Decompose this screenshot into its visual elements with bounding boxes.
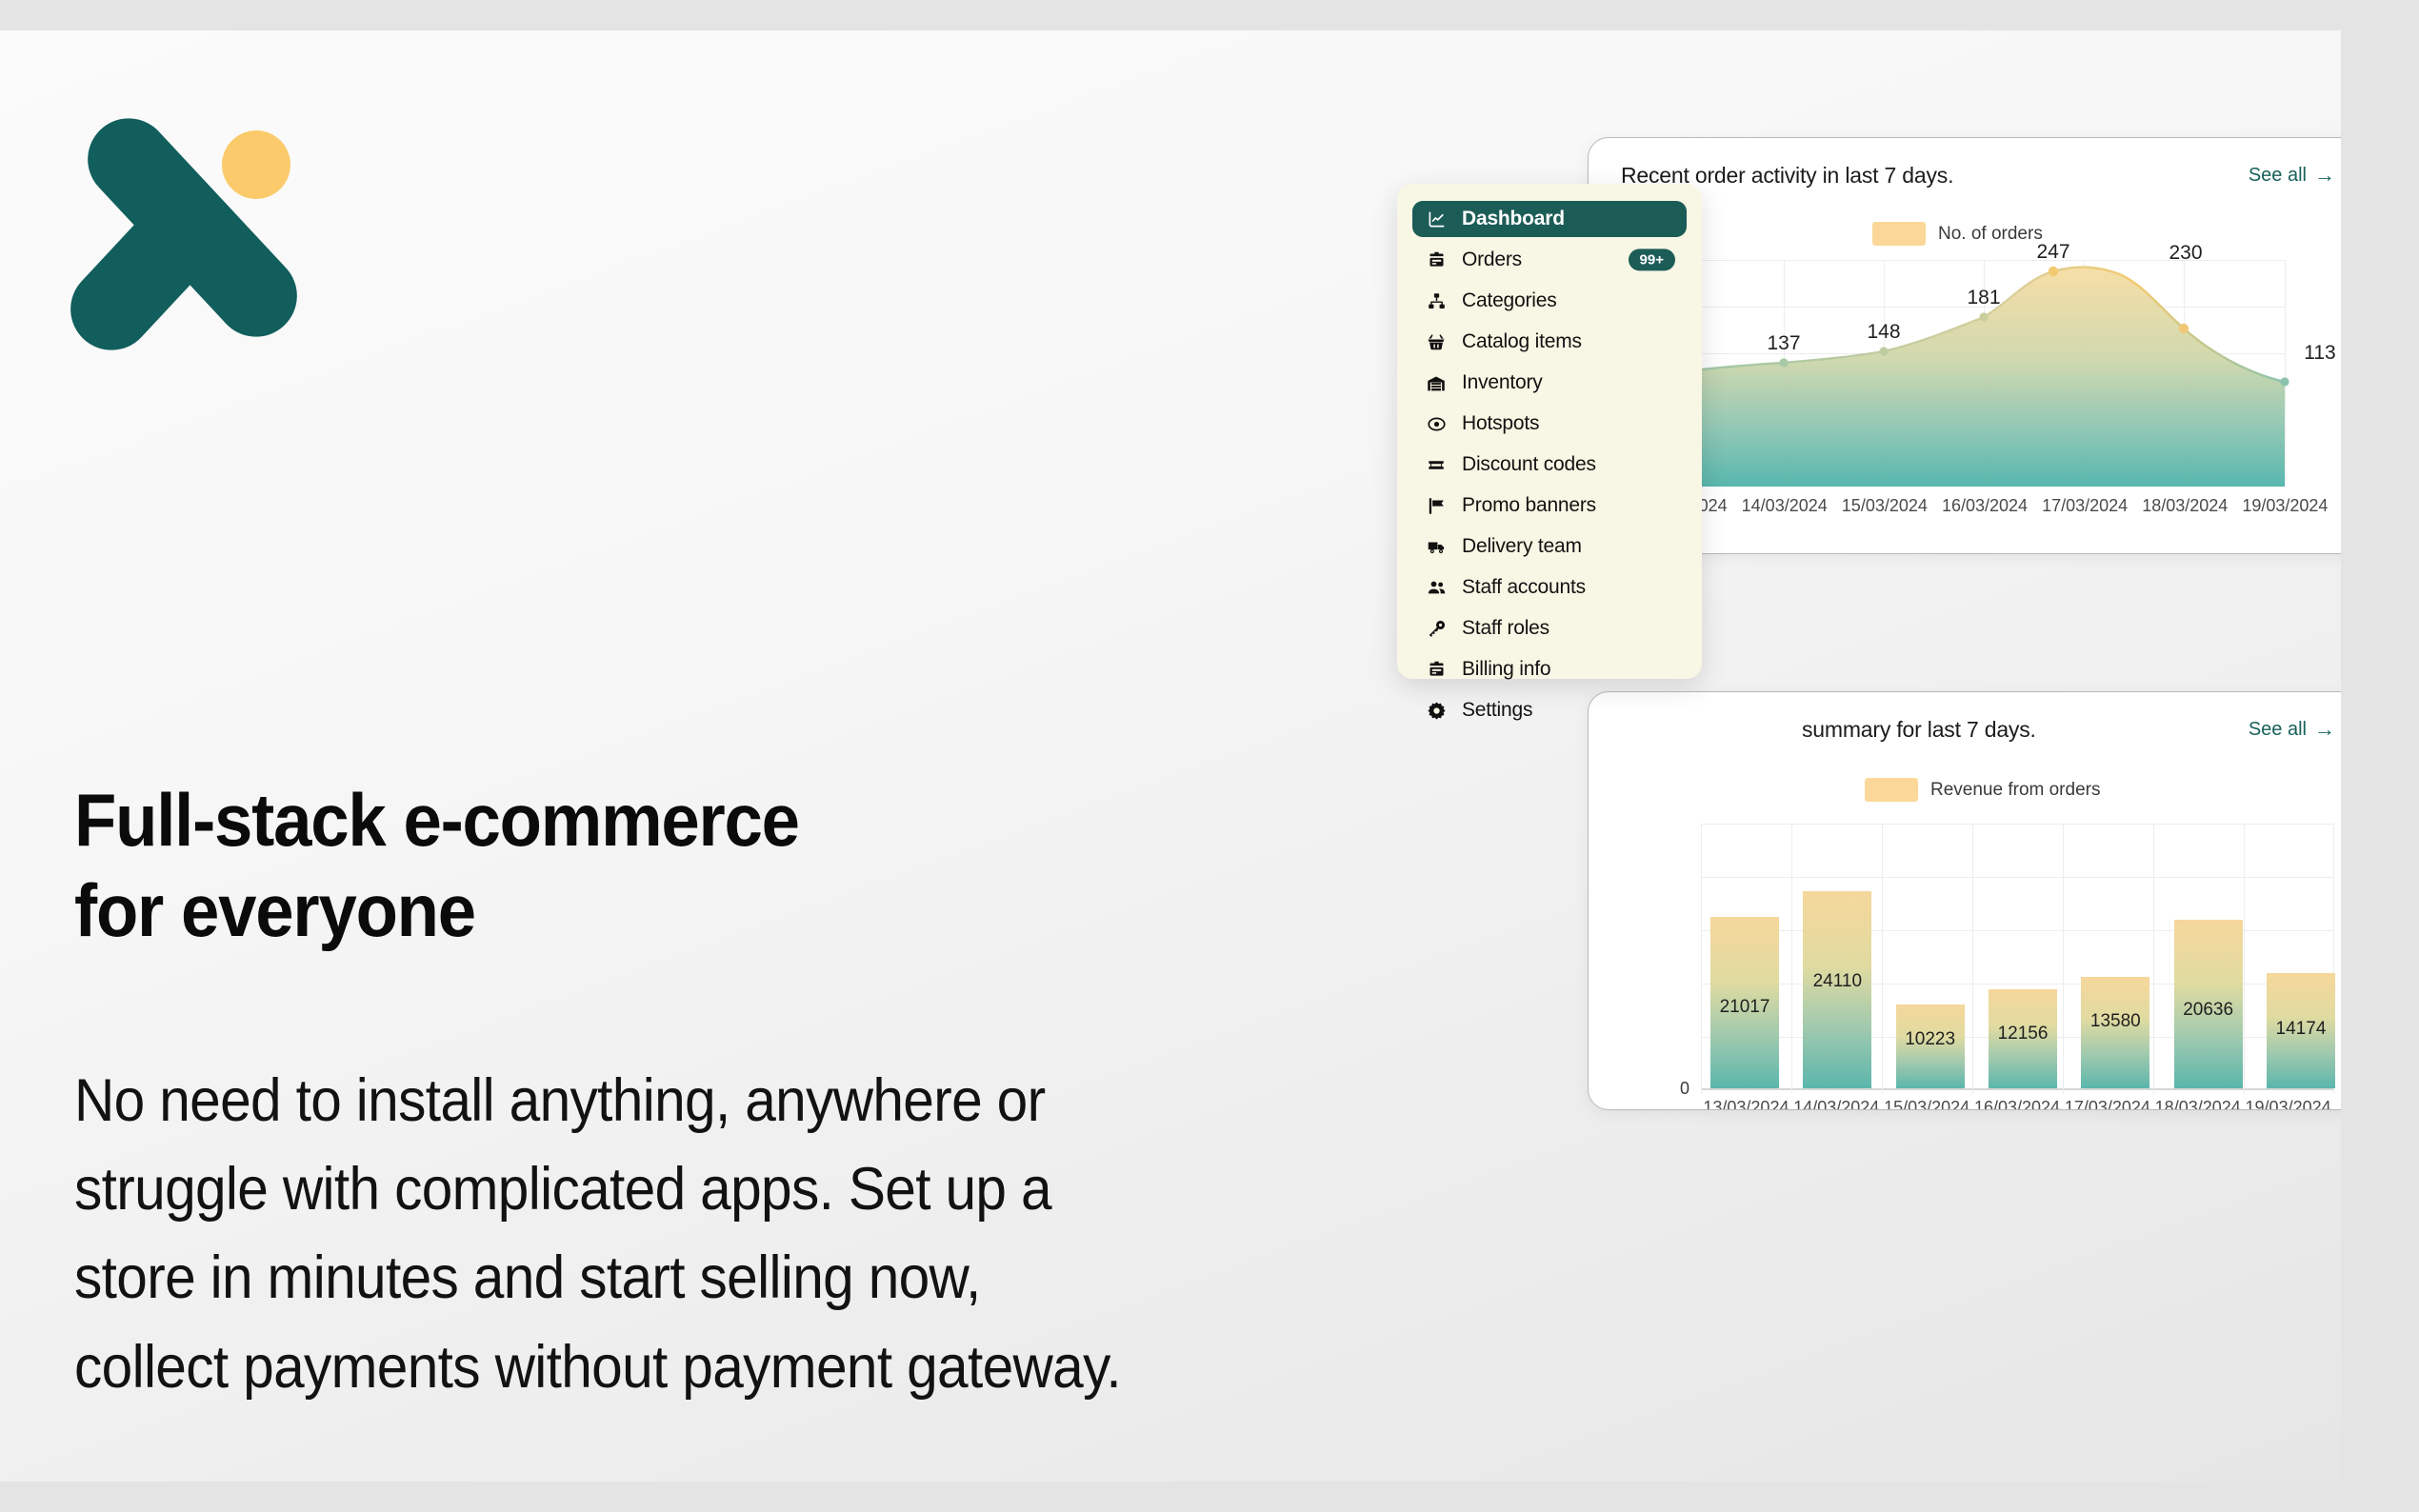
bar-column: 14174 [2267, 862, 2335, 1088]
x-tick: 16/03/2024 [1972, 1098, 2063, 1110]
sidebar-item-discount-codes[interactable]: Discount codes [1412, 447, 1687, 483]
sidebar-item-label: Inventory [1462, 371, 1543, 394]
bar: 20636 [2174, 920, 2243, 1088]
sidebar-item-label: Discount codes [1462, 453, 1596, 476]
bar-column: 20636 [2174, 862, 2243, 1088]
bar-column: 10223 [1896, 862, 1965, 1088]
gridline-h [1701, 824, 2333, 825]
x-mark-logo [74, 112, 293, 331]
data-label: 247 [2036, 241, 2069, 264]
x-axis-line [1701, 1088, 2333, 1090]
sidebar-item-label: Billing info [1462, 658, 1550, 681]
sidebar-item-inventory[interactable]: Inventory [1412, 365, 1687, 401]
bar: 13580 [2081, 977, 2149, 1088]
basket-icon [1424, 331, 1449, 352]
warehouse-icon [1424, 372, 1449, 393]
x-tick: 15/03/2024 [1834, 496, 1934, 516]
sidebar-item-staff-accounts[interactable]: Staff accounts [1412, 569, 1687, 606]
sidebar-item-label: Promo banners [1462, 494, 1596, 517]
x-tick: 19/03/2024 [2235, 496, 2335, 516]
receipt-icon [1424, 659, 1449, 680]
bar-value-label: 20636 [2183, 1000, 2233, 1021]
sidebar-item-settings[interactable]: Settings [1412, 692, 1687, 728]
banner-flag-icon [1424, 495, 1449, 516]
sidebar-item-label: Delivery team [1462, 535, 1582, 558]
sidebar-item-billing-info[interactable]: Billing info [1412, 651, 1687, 687]
bar-value-label: 12156 [1998, 1024, 2049, 1044]
sidebar-item-dashboard[interactable]: Dashboard [1412, 201, 1687, 237]
x-tick: 17/03/2024 [2062, 1098, 2152, 1110]
x-axis-labels-revenue: 13/03/2024 14/03/2024 15/03/2024 16/03/2… [1701, 1098, 2333, 1110]
sidebar-item-label: Catalog items [1462, 330, 1582, 353]
key-icon [1424, 618, 1449, 639]
sidebar-item-orders[interactable]: Orders 99+ [1412, 242, 1687, 278]
sidebar-nav: Dashboard Orders 99+ Categories Cata [1397, 184, 1702, 679]
y-axis-zero-label: 0 [1680, 1079, 1689, 1099]
bar-column: 24110 [1803, 862, 1871, 1088]
hero-subcopy: No need to install anything, anywhere or… [74, 1057, 1146, 1412]
orders-count-badge: 99+ [1629, 249, 1675, 270]
sidebar-item-staff-roles[interactable]: Staff roles [1412, 610, 1687, 647]
x-tick: 18/03/2024 [2152, 1098, 2243, 1110]
x-tick: 18/03/2024 [2135, 496, 2235, 516]
chart-line-icon [1424, 209, 1449, 229]
bar: 12156 [1989, 989, 2057, 1088]
sidebar-item-hotspots[interactable]: Hotspots [1412, 406, 1687, 442]
sidebar-item-label: Hotspots [1462, 412, 1539, 435]
bar: 14174 [2267, 973, 2335, 1088]
sidebar-item-label: Settings [1462, 699, 1532, 722]
sidebar-item-categories[interactable]: Categories [1412, 283, 1687, 319]
sidebar-item-delivery-team[interactable]: Delivery team [1412, 528, 1687, 565]
bar-column: 12156 [1989, 862, 2057, 1088]
data-label: 230 [2169, 242, 2202, 265]
bar-column: 13580 [2081, 862, 2149, 1088]
sidebar-item-label: Orders [1462, 249, 1522, 271]
truck-icon [1424, 536, 1449, 557]
x-tick: 14/03/2024 [1734, 496, 1834, 516]
sidebar-item-promo-banners[interactable]: Promo banners [1412, 487, 1687, 524]
bar-value-label: 24110 [1813, 971, 1862, 992]
data-label: 148 [1867, 321, 1900, 344]
receipt-icon [1424, 249, 1449, 270]
ticket-icon [1424, 454, 1449, 475]
card-revenue-summary: summary for last 7 days. See all → Reven… [1588, 691, 2341, 1110]
bar-value-label: 14174 [2276, 1019, 2327, 1040]
x-tick: 17/03/2024 [2035, 496, 2135, 516]
x-tick: 13/03/2024 [1701, 1098, 1791, 1110]
data-label: 181 [1967, 287, 2000, 309]
x-axis-labels-orders: 13/03/2024 14/03/2024 15/03/2024 16/03/2… [1634, 496, 2335, 516]
sidebar-item-label: Staff roles [1462, 617, 1549, 640]
bar-value-label: 13580 [2090, 1011, 2141, 1032]
gear-icon [1424, 700, 1449, 721]
slide-canvas: Full-stack e-commerce for everyone No ne… [0, 0, 2419, 1512]
plot-area-revenue: 0 21017 24110 10223 [1589, 692, 2341, 1109]
target-eye-icon [1424, 413, 1449, 434]
sidebar-item-label: Staff accounts [1462, 576, 1586, 599]
sidebar-item-catalog-items[interactable]: Catalog items [1412, 324, 1687, 360]
gridline-v [1701, 824, 1702, 1094]
x-tick: 16/03/2024 [1934, 496, 2034, 516]
sidebar-item-label: Dashboard [1462, 208, 1565, 230]
data-label: 113 [2304, 342, 2335, 365]
page-title: Full-stack e-commerce for everyone [74, 775, 1093, 956]
sidebar-item-label: Categories [1462, 289, 1557, 312]
x-tick: 15/03/2024 [1882, 1098, 1972, 1110]
slide-page: Full-stack e-commerce for everyone No ne… [0, 30, 2341, 1482]
bar-value-label: 21017 [1720, 997, 1770, 1018]
sitemap-icon [1424, 290, 1449, 311]
bar: 21017 [1710, 917, 1779, 1088]
bar: 24110 [1803, 891, 1871, 1088]
bar-value-label: 10223 [1905, 1029, 1955, 1050]
bar: 10223 [1896, 1005, 1965, 1088]
x-tick: 14/03/2024 [1791, 1098, 1882, 1110]
bar-series: 21017 24110 10223 [1710, 862, 2335, 1088]
data-label: 137 [1767, 332, 1800, 355]
users-icon [1424, 577, 1449, 598]
logo-dot [222, 130, 290, 199]
bar-column: 21017 [1710, 862, 1779, 1088]
x-tick: 19/03/2024 [2243, 1098, 2333, 1110]
